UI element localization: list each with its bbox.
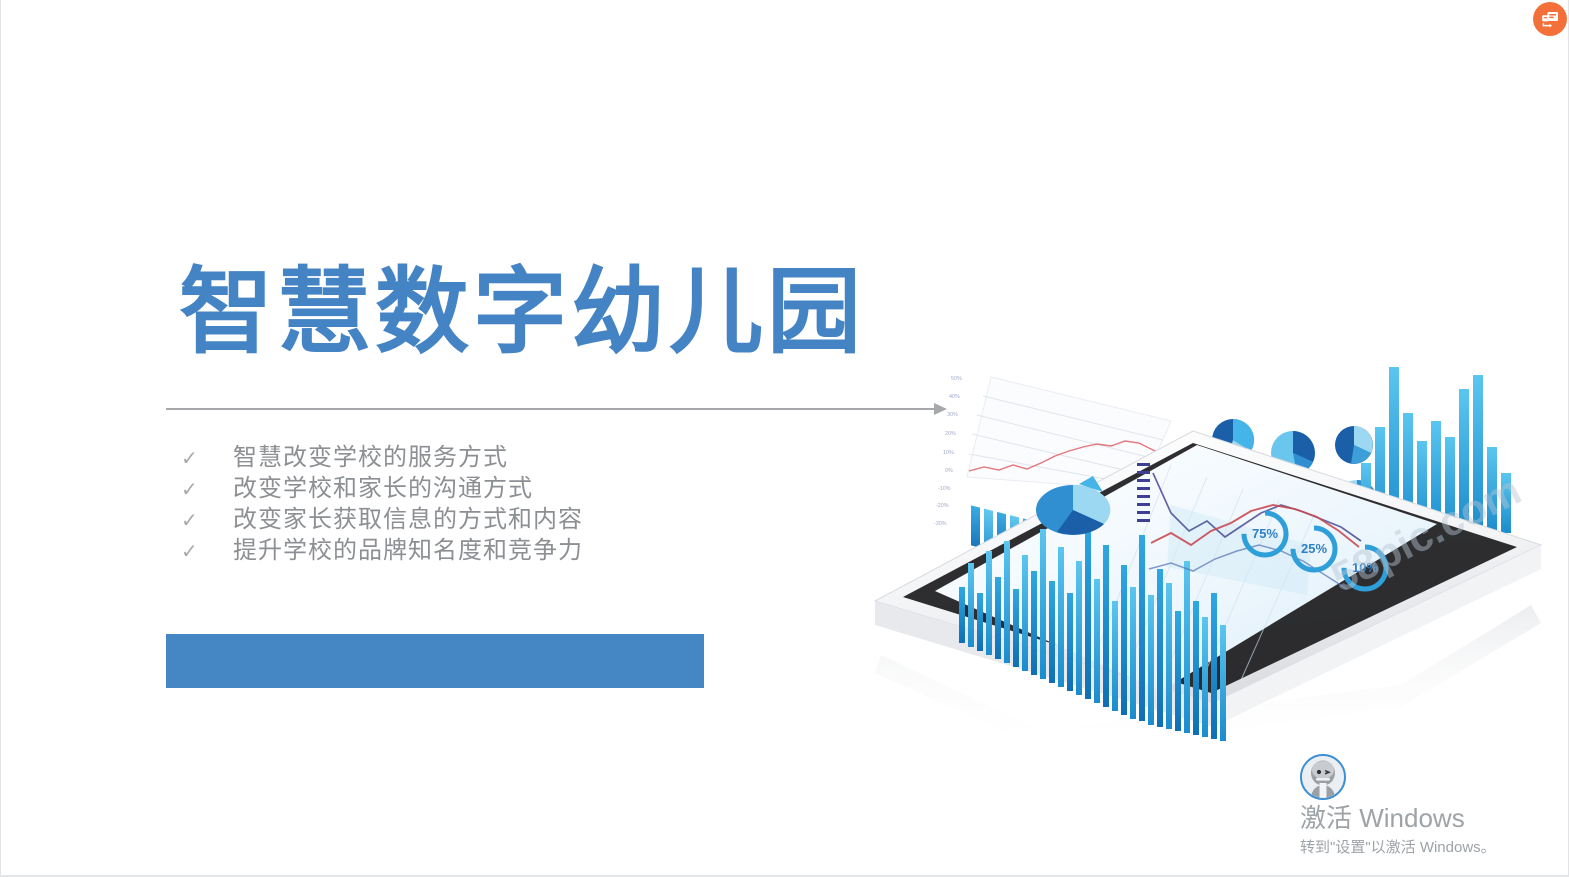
check-icon: ✓ — [181, 474, 233, 505]
tablet-analytics-illustration: 50% 40% 30% 20% 10% 0% -10% -20% -30% — [841, 355, 1569, 755]
axis-tick: 40% — [949, 394, 960, 400]
axis-tick: 10% — [943, 450, 954, 456]
list-item-label: 改变家长获取信息的方式和内容 — [233, 504, 583, 535]
axis-tick: -20% — [936, 503, 949, 509]
gauge-label: 75% — [1252, 526, 1278, 541]
check-icon: ✓ — [181, 443, 233, 474]
activation-title: 激活 Windows — [1300, 804, 1558, 834]
arrow-divider — [166, 400, 948, 418]
user-avatar-icon — [1300, 754, 1346, 800]
check-icon: ✓ — [181, 536, 233, 567]
gauge-label: 25% — [1301, 541, 1327, 556]
axis-tick: -30% — [934, 521, 947, 527]
subtitle-banner — [166, 634, 704, 688]
axis-tick: 20% — [945, 431, 956, 437]
page-title: 智慧数字幼儿园 — [179, 262, 865, 364]
list-item: ✓ 智慧改变学校的服务方式 — [181, 442, 821, 473]
list-item-label: 提升学校的品牌知名度和竞争力 — [233, 535, 583, 566]
list-item-label: 改变学校和家长的沟通方式 — [233, 473, 533, 504]
bullet-list: ✓ 智慧改变学校的服务方式 ✓ 改变学校和家长的沟通方式 ✓ 改变家长获取信息的… — [181, 442, 821, 566]
list-item: ✓ 改变家长获取信息的方式和内容 — [181, 504, 821, 535]
screen-share-icon[interactable] — [1533, 2, 1567, 36]
axis-tick: 0% — [945, 468, 953, 474]
list-item: ✓ 提升学校的品牌知名度和竞争力 — [181, 535, 821, 566]
axis-tick: 30% — [947, 412, 958, 418]
presentation-slide: 智慧数字幼儿园 ✓ 智慧改变学校的服务方式 ✓ 改变学校和家长的沟通方式 ✓ 改… — [0, 0, 1569, 877]
axis-tick: -10% — [938, 486, 951, 492]
check-icon: ✓ — [181, 505, 233, 536]
list-item: ✓ 改变学校和家长的沟通方式 — [181, 473, 821, 504]
tablet-device: 75% 25% 10% 58pic.com — [875, 431, 1541, 753]
activation-subtitle: 转到"设置"以激活 Windows。 — [1300, 836, 1558, 857]
windows-activation-watermark: 激活 Windows 转到"设置"以激活 Windows。 — [1288, 804, 1558, 857]
axis-tick: 50% — [951, 376, 962, 382]
list-item-label: 智慧改变学校的服务方式 — [233, 442, 508, 473]
